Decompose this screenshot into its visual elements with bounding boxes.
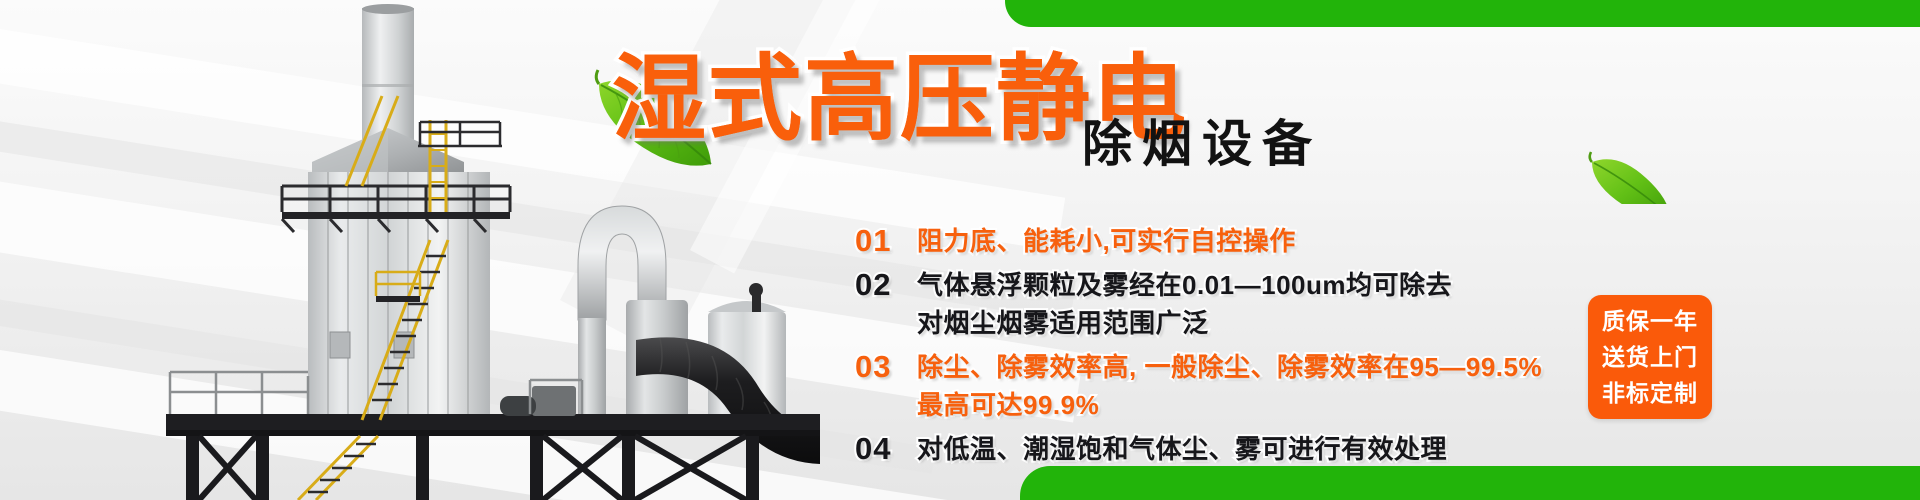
feature-number: 04 [855, 430, 917, 468]
feature-number: 01 [855, 222, 917, 260]
feature-item-02: 02 气体悬浮颗粒及雾经在0.01—100um均可除去 对烟尘烟雾适用范围广泛 [855, 266, 1575, 342]
feature-item-03: 03 除尘、除雾效率高, 一般除尘、除雾效率在95—99.5% 最高可达99.9… [855, 348, 1575, 424]
badge-line-warranty: 质保一年 [1602, 303, 1698, 339]
leaf-icon [1584, 122, 1680, 204]
promo-banner: 湿式高压静电 湿式高压静电 除烟设备 01 阻力底、能耗小,可实行自控操作 02… [0, 0, 1920, 500]
feature-list: 01 阻力底、能耗小,可实行自控操作 02 气体悬浮颗粒及雾经在0.01—100… [855, 222, 1575, 474]
headline-block: 湿式高压静电 湿式高压静电 除烟设备 [612, 52, 1188, 152]
feature-line: 除尘、除雾效率高, 一般除尘、除雾效率在95—99.5% [917, 348, 1542, 386]
feature-item-01: 01 阻力底、能耗小,可实行自控操作 [855, 222, 1575, 260]
feature-text: 对低温、潮湿饱和气体尘、雾可进行有效处理 [917, 430, 1447, 468]
feature-line: 最高可达99.9% [917, 386, 1542, 424]
feature-line: 气体悬浮颗粒及雾经在0.01—100um均可除去 [917, 266, 1452, 304]
feature-line: 对低温、潮湿饱和气体尘、雾可进行有效处理 [917, 430, 1447, 468]
page-subtitle: 除烟设备 [1082, 104, 1322, 176]
feature-number: 03 [855, 348, 917, 386]
badge-line-custom: 非标定制 [1602, 375, 1698, 411]
green-corner-bar-top [1005, 0, 1920, 27]
badge-line-delivery: 送货上门 [1602, 339, 1698, 375]
feature-text: 除尘、除雾效率高, 一般除尘、除雾效率在95—99.5% 最高可达99.9% [917, 348, 1542, 424]
feature-text: 阻力底、能耗小,可实行自控操作 [917, 222, 1296, 260]
feature-number: 02 [855, 266, 917, 304]
guarantee-badge[interactable]: 质保一年 送货上门 非标定制 [1588, 295, 1712, 419]
feature-line: 对烟尘烟雾适用范围广泛 [917, 304, 1452, 342]
feature-item-04: 04 对低温、潮湿饱和气体尘、雾可进行有效处理 [855, 430, 1575, 468]
feature-line: 阻力底、能耗小,可实行自控操作 [917, 222, 1296, 260]
feature-text: 气体悬浮颗粒及雾经在0.01—100um均可除去 对烟尘烟雾适用范围广泛 [917, 266, 1452, 342]
